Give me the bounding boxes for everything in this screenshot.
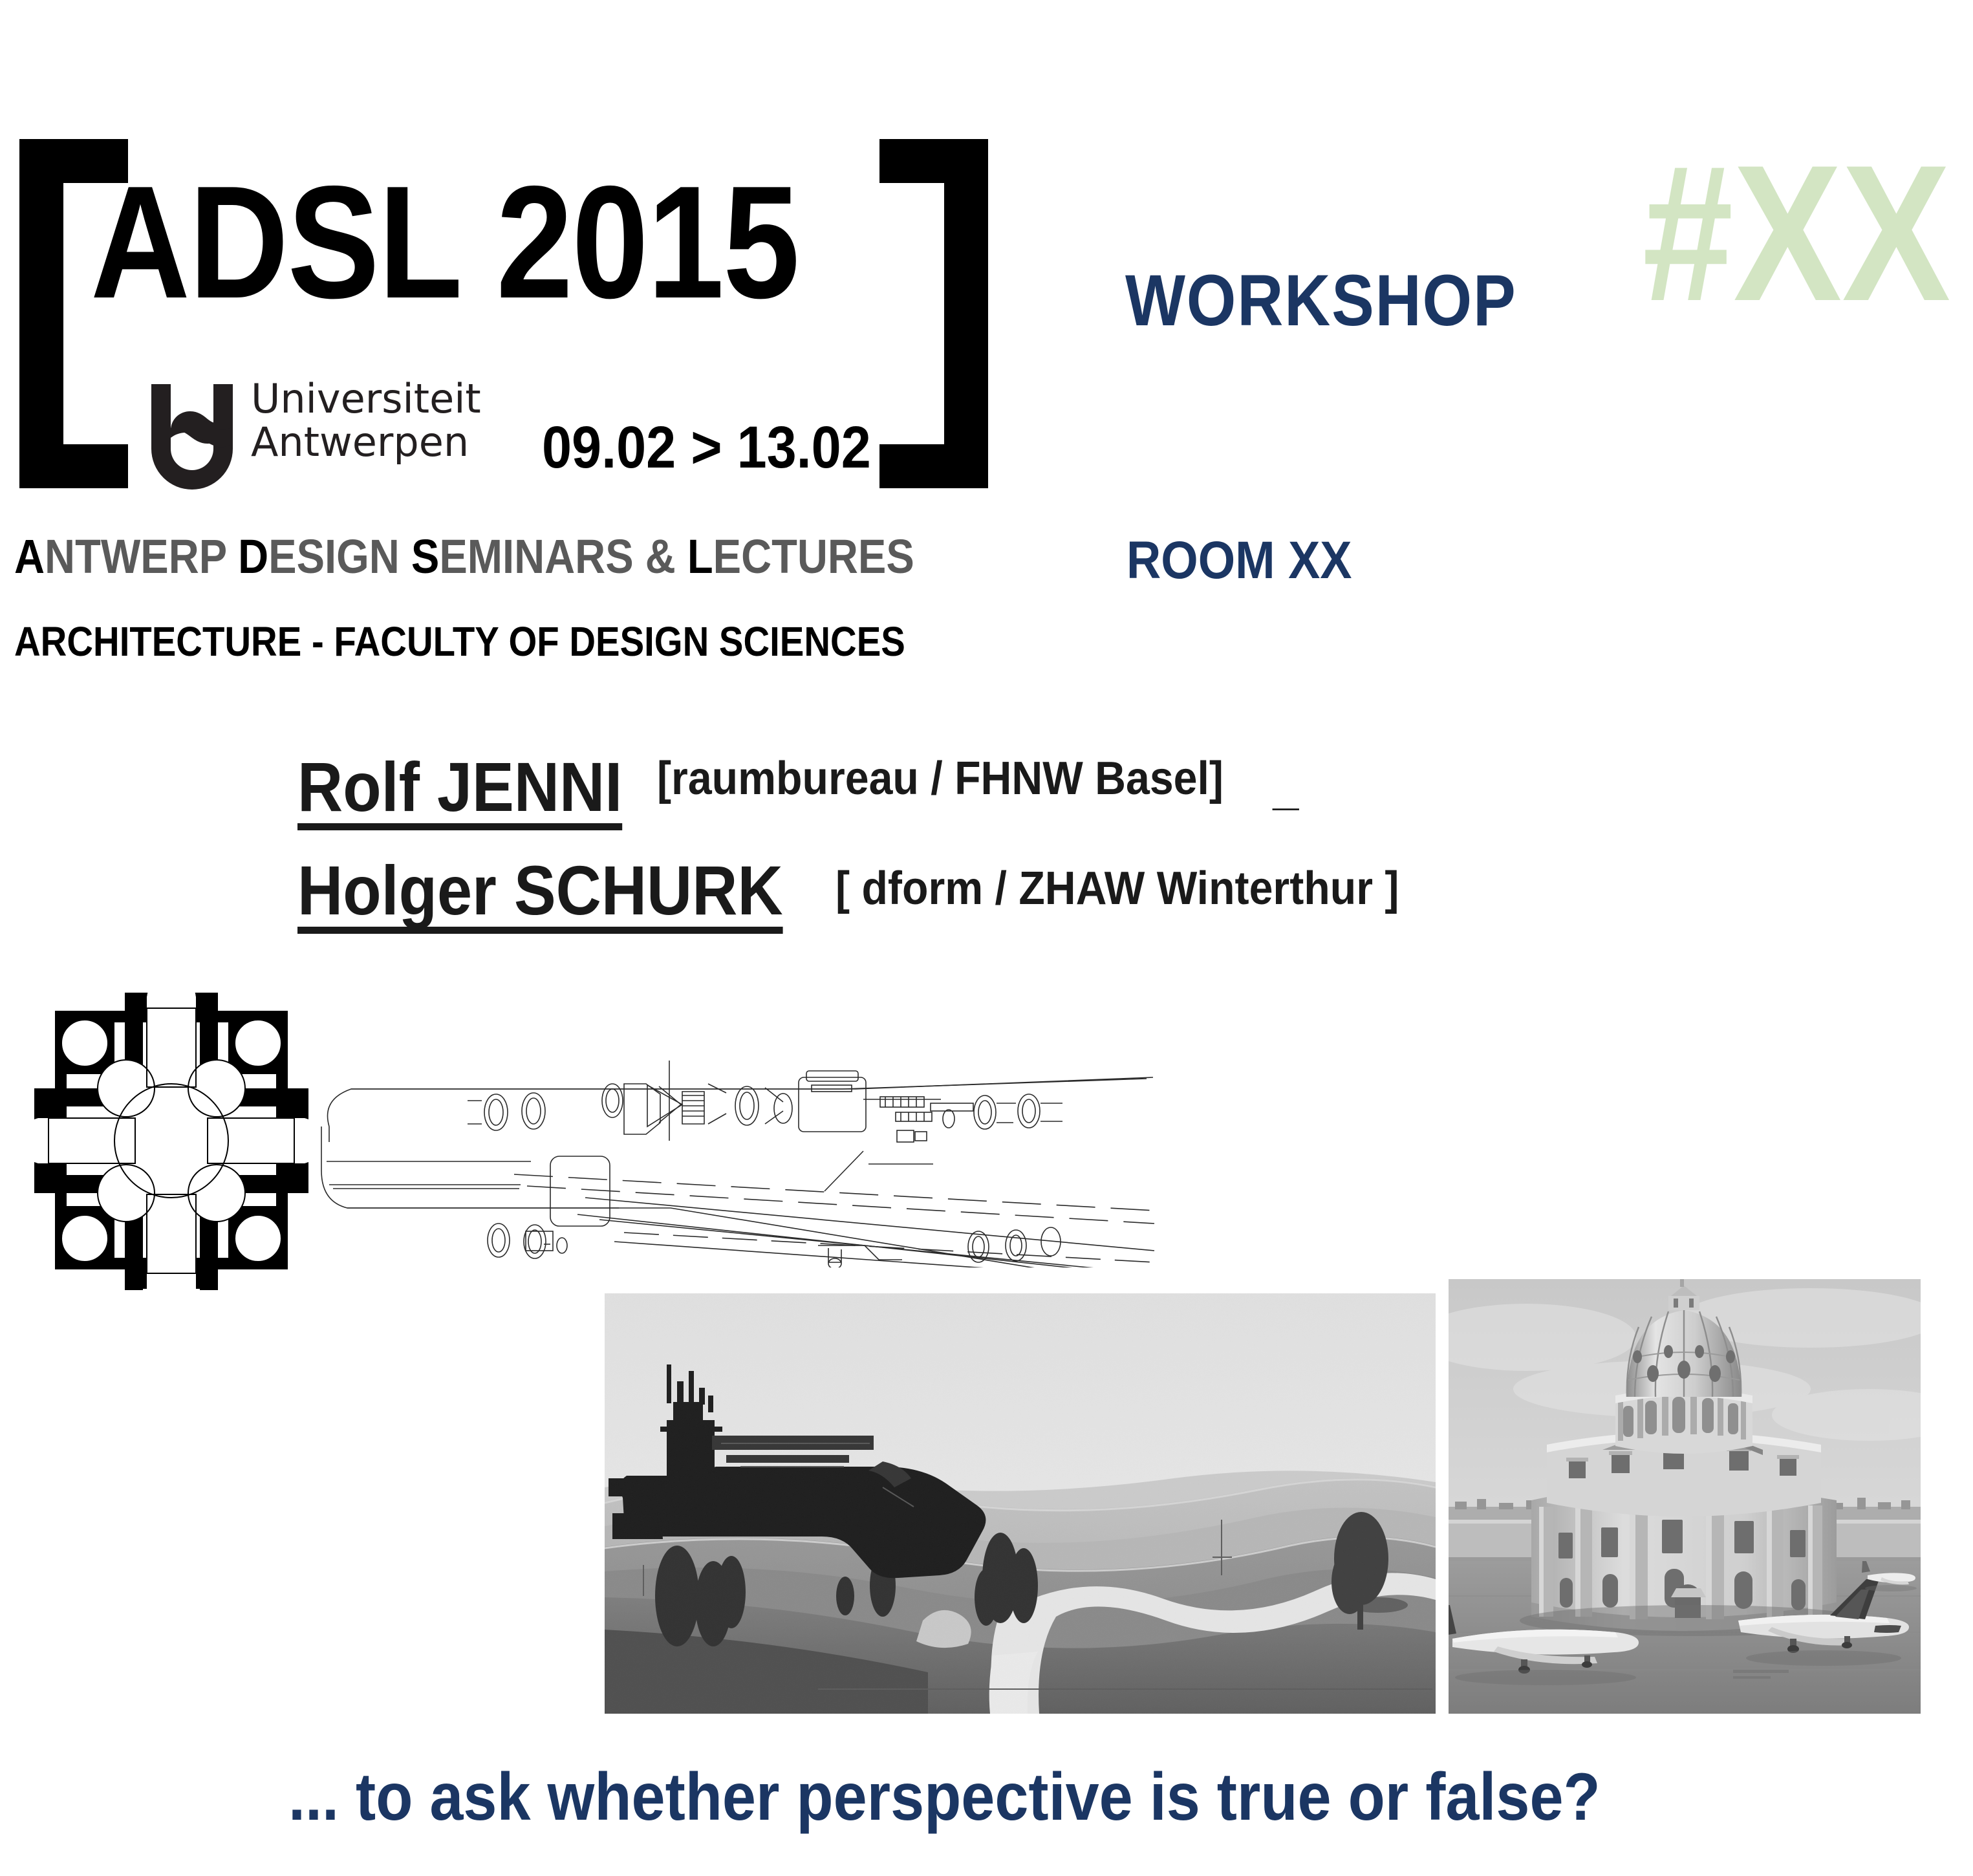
acronym-rest-l: ECTURES	[713, 530, 914, 583]
acronym-rest-s: EMINARS &	[439, 530, 687, 583]
workshop-label: WORKSHOP	[1125, 259, 1516, 342]
workshop-number: #XX	[1643, 136, 1950, 330]
speaker-list: Rolf JENNI[raumbureau / FHNW Basel]_ Hol…	[0, 737, 1973, 970]
speaker-row: Holger SCHURK[ dform / ZHAW Winterthur ]	[297, 854, 1448, 934]
university-name: Universiteit Antwerpen	[251, 378, 481, 464]
tagline: ... to ask whether perspective is true o…	[288, 1759, 1601, 1836]
acronym-cap-d: D	[238, 530, 268, 583]
centrally-planned-church-floor-plan-icon	[29, 993, 314, 1291]
faculty-line: ARCHITECTURE - FACULTY OF DESIGN SCIENCE…	[14, 618, 905, 665]
page-title: ADSL 2015	[91, 162, 799, 322]
acronym-rest-a: NTWERP	[45, 530, 238, 583]
event-dates: 09.02 > 13.02	[542, 414, 871, 482]
aircraft-carrier-deck-line-drawing-icon	[320, 1048, 1161, 1267]
ua-mark-icon	[147, 382, 235, 491]
dome-tarmac-image	[1449, 1279, 1921, 1714]
speaker-separator: _	[1273, 763, 1299, 815]
photo-dome-on-tarmac	[1449, 1279, 1921, 1714]
speaker-name: Holger SCHURK	[297, 854, 783, 934]
drawings-band	[0, 989, 1973, 1293]
acronym-rest-d: ESIGN	[268, 530, 411, 583]
carrier-landscape-image	[605, 1293, 1436, 1714]
university-logo: Universiteit Antwerpen	[147, 382, 510, 504]
acronym-cap-l: L	[687, 530, 713, 583]
university-line-1: Universiteit	[251, 378, 481, 421]
speaker-name: Rolf JENNI	[297, 750, 622, 830]
speaker-affiliation: [ dform / ZHAW Winterthur ]	[836, 862, 1399, 915]
room-label: ROOM XX	[1127, 530, 1352, 591]
acronym-cap-s: S	[411, 530, 439, 583]
university-line-2: Antwerpen	[251, 421, 481, 464]
photo-carrier-in-landscape	[605, 1293, 1436, 1714]
poster-canvas: ADSL 2015 Universiteit Antwerpen 09.02 >…	[0, 0, 1973, 1876]
speaker-row: Rolf JENNI[raumbureau / FHNW Basel]_	[297, 750, 1299, 830]
acronym-cap-a: A	[14, 530, 45, 583]
speaker-affiliation: [raumbureau / FHNW Basel]	[657, 752, 1224, 805]
acronym-expansion: ANTWERP DESIGN SEMINARS & LECTURES	[14, 529, 914, 584]
masthead: ADSL 2015 Universiteit Antwerpen 09.02 >…	[0, 0, 1973, 685]
